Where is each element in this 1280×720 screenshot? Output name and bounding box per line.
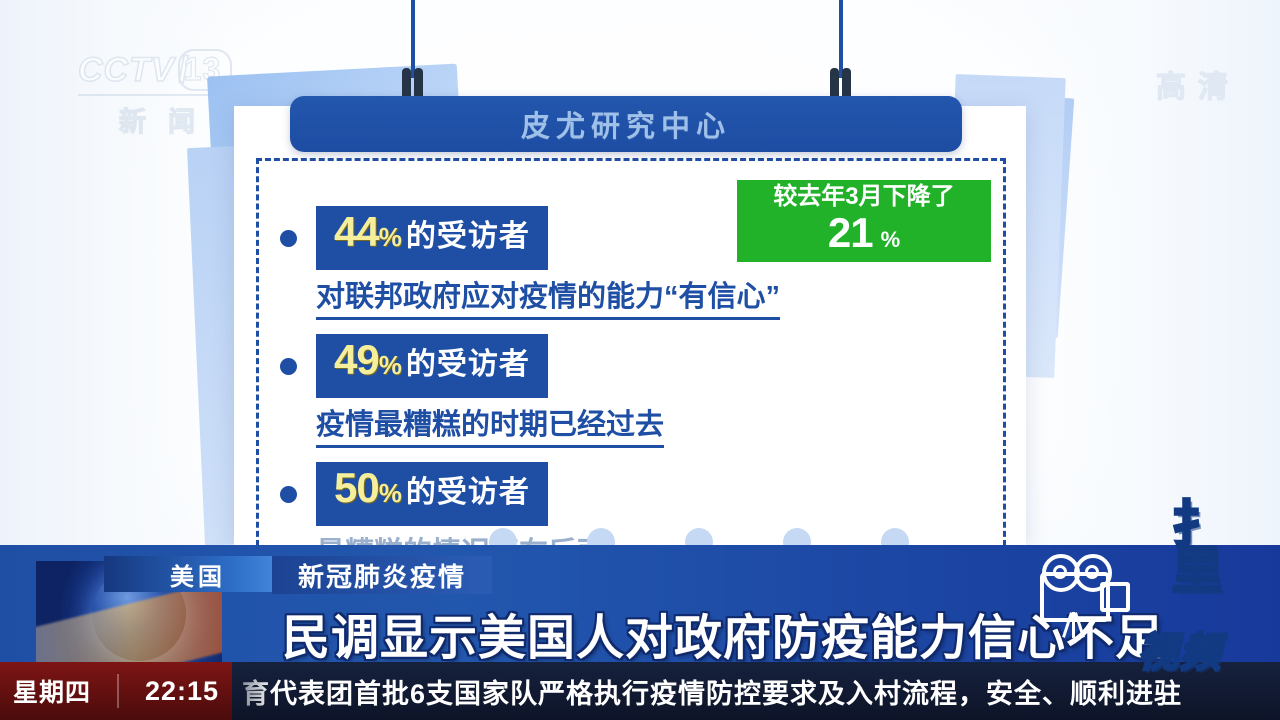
infographic-title-bar: 皮尤研究中心	[290, 96, 962, 152]
topic-tag: 新冠肺炎疫情	[272, 556, 492, 594]
stat-chip: 50%的受访者	[316, 462, 548, 526]
list-item: 49%的受访者 疫情最糟糕的时期已经过去	[276, 334, 916, 448]
watermark-char-mid: 里	[1172, 548, 1222, 594]
stat-chip: 44%的受访者	[316, 206, 548, 270]
stat-detail-text: 对联邦政府应对疫情的能力“有信心”	[316, 273, 780, 320]
cctv-logo-text: CCTV	[78, 51, 175, 90]
watermark-sub-left: 视	[1138, 620, 1178, 678]
stat-percent-value: 49	[334, 336, 379, 383]
stat-chip-label: 的受访者	[406, 348, 530, 381]
stat-percent-value: 44	[334, 208, 379, 255]
bullet-dot-icon	[280, 230, 297, 247]
hd-watermark: 高清	[1156, 62, 1240, 106]
stat-percent-sign: %	[379, 478, 402, 508]
topic-tag-label: 新冠肺炎疫情	[298, 557, 466, 594]
stat-percent-value: 50	[334, 464, 379, 511]
bullet-dot-icon	[280, 486, 297, 503]
infographic-source-title: 皮尤研究中心	[521, 103, 731, 145]
bullet-dot-icon	[280, 358, 297, 375]
watermark-char-top: 扌	[1172, 502, 1222, 548]
ticker-separator	[117, 674, 119, 708]
watermark-sub-text: 视 频	[1138, 620, 1220, 678]
stat-percent-sign: %	[379, 350, 402, 380]
movie-camera-icon	[1032, 550, 1128, 624]
country-tag: 美国	[104, 556, 292, 592]
stat-chip-label: 的受访者	[406, 476, 530, 509]
broadcast-screen: CCTV / 13 新闻 高清 皮尤研究中心 较去年3月下降了 21 %	[0, 0, 1280, 720]
ticker-clock: 22:15	[145, 676, 219, 707]
watermark-sub-right: 频	[1180, 620, 1220, 678]
list-item: 44%的受访者 对联邦政府应对疫情的能力“有信心”	[276, 206, 916, 320]
stat-detail-text: 疫情最糟糕的时期已经过去	[316, 401, 664, 448]
stat-chip: 49%的受访者	[316, 334, 548, 398]
ticker-weekday: 星期四	[13, 673, 91, 709]
stat-chip-label: 的受访者	[406, 220, 530, 253]
stat-percent-sign: %	[379, 222, 402, 252]
country-tag-label: 美国	[170, 557, 226, 592]
video-watermark: 扌 里 视 频	[1032, 502, 1222, 682]
watermark-main-text: 扌 里	[1172, 502, 1222, 594]
ticker-datetime: 星期四 22:15	[0, 662, 232, 720]
